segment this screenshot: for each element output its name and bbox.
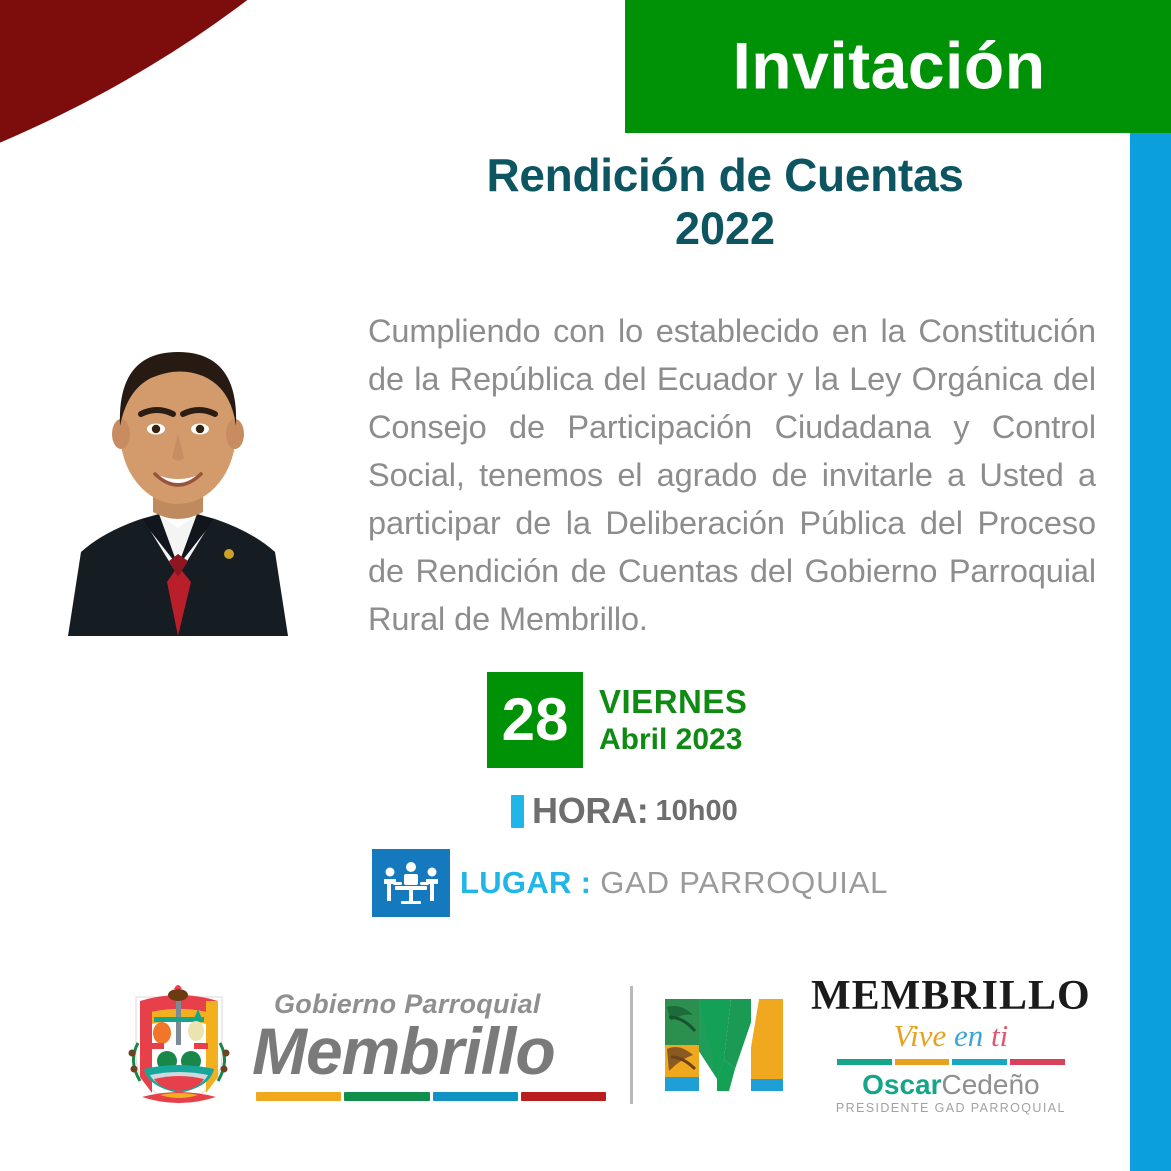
invitation-body-text: Cumpliendo con lo establecido en la Cons… [368,307,1096,643]
footer-divider [630,986,633,1104]
membrillo-wordmark: MEMBRILLO Vive en ti OscarCedeño PRESIDE… [811,975,1091,1115]
page-title: Rendición de Cuentas 2022 [330,152,1120,253]
president-name: OscarCedeño [811,1070,1091,1099]
blue-edge-strip [1130,133,1171,1171]
president-role: PRESIDENTE GAD PARROQUIAL [811,1101,1091,1115]
presidente-portrait [33,314,323,636]
gobierno-wordmark: Gobierno Parroquial Membrillo [252,989,606,1101]
slogan-word-1: Vive [893,1018,946,1053]
place-value: GAD PARROQUIAL [600,865,888,901]
gobierno-color-bar [256,1092,606,1101]
membrillo-title: MEMBRILLO [811,975,1091,1017]
banner-title: Invitación [625,32,1153,98]
slogan-word-2: en [954,1018,983,1053]
membrillo-slogan: Vive en ti [811,1019,1091,1053]
body-paragraph: Cumpliendo con lo establecido en la Cons… [368,307,1096,643]
time-value: 10h00 [656,795,738,828]
membrillo-m-mark-icon [659,987,789,1103]
membrillo-brand-logo: MEMBRILLO Vive en ti OscarCedeño PRESIDE… [659,975,1091,1115]
slogan-word-3: ti [991,1018,1008,1053]
invitation-poster: Invitación Rendición de Cuentas 2022 [0,0,1171,1171]
meeting-table-icon [372,849,450,917]
event-day-number: 28 [487,672,583,768]
headline-line-1: Rendición de Cuentas [330,152,1120,200]
event-date-block: 28 VIERNES Abril 2023 [487,672,747,768]
time-marker-icon [511,795,524,828]
coat-of-arms-shield-icon [120,981,238,1109]
place-label: LUGAR : [460,865,591,901]
president-first-name: Oscar [862,1069,941,1100]
event-month-year: Abril 2023 [599,723,747,756]
event-weekday: VIERNES [599,684,747,720]
event-date-words: VIERNES Abril 2023 [599,684,747,756]
membrillo-color-bar [837,1059,1065,1065]
footer-logos: Gobierno Parroquial Membrillo [0,960,1130,1130]
president-last-name: Cedeño [942,1069,1040,1100]
gobierno-title: Membrillo [252,1018,606,1084]
headline-line-2: 2022 [330,206,1120,253]
event-time-row: HORA: 10h00 [511,790,738,832]
time-label: HORA: [532,790,649,832]
invitation-banner: Invitación [625,0,1171,133]
event-place-row: LUGAR : GAD PARROQUIAL [372,849,888,917]
gobierno-parroquial-logo: Gobierno Parroquial Membrillo [120,981,606,1109]
